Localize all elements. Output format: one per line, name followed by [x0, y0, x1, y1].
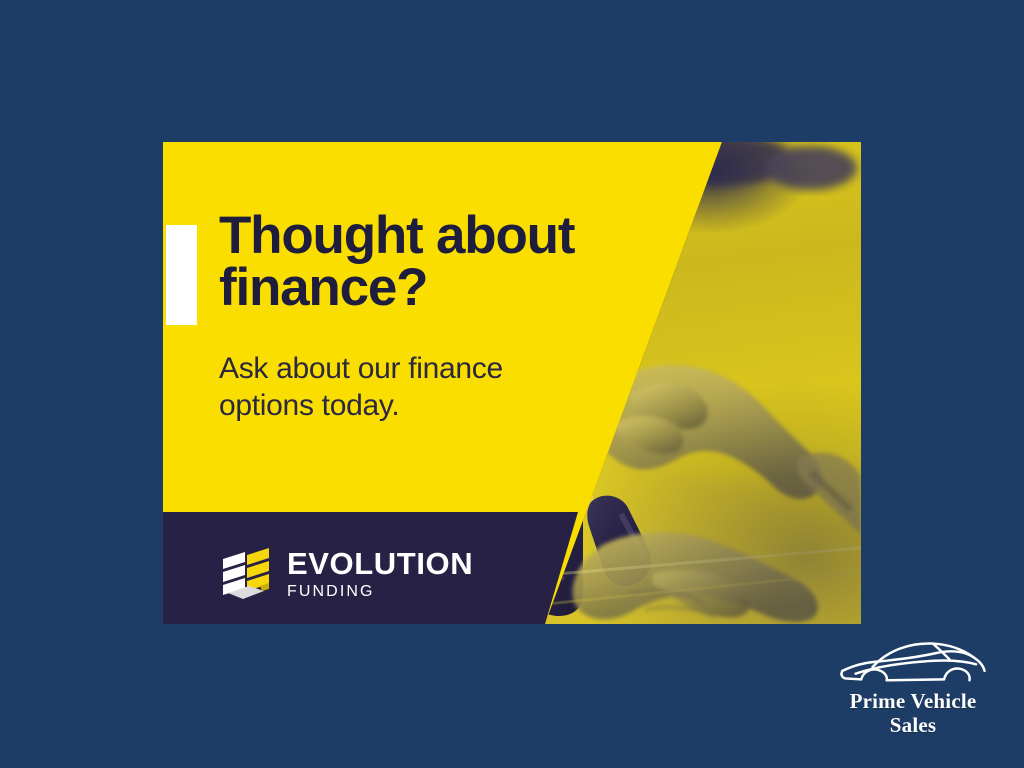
page-title: Thought about finance?	[219, 210, 649, 315]
isometric-cube-logo-icon	[220, 546, 272, 602]
promo-subhead: Ask about our finance options today.	[219, 315, 649, 424]
brand-subname: FUNDING	[287, 579, 473, 600]
promo-copy: Thought about finance? Ask about our fin…	[219, 210, 649, 424]
prime-vehicle-sales-logo: Prime Vehicle Sales	[818, 634, 1008, 737]
evolution-funding-wordmark: EVOLUTION FUNDING	[287, 548, 473, 600]
brand-name: EVOLUTION	[287, 548, 473, 579]
evolution-funding-logo: EVOLUTION FUNDING	[220, 546, 473, 602]
accent-bar	[166, 225, 197, 325]
finance-promo-card: Thought about finance? Ask about our fin…	[163, 142, 861, 624]
slide-background: Thought about finance? Ask about our fin…	[0, 0, 1024, 768]
sports-car-outline-icon	[833, 634, 993, 688]
dealer-name: Prime Vehicle Sales	[818, 688, 1008, 737]
